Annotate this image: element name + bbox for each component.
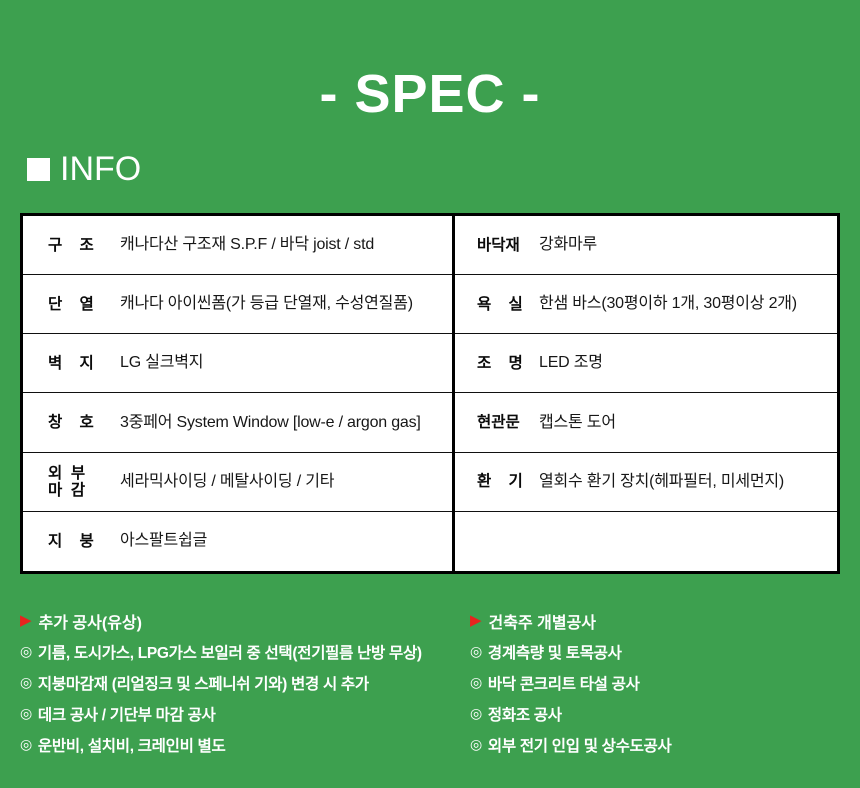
notes-heading-label: 건축주 개별공사	[489, 609, 597, 633]
list-item: ◎ 기름, 도시가스, LPG가스 보일러 중 선택(전기필름 난방 무상)	[20, 636, 470, 667]
spec-value: 3중페어 System Window [low-e / argon gas]	[101, 413, 421, 433]
circled-dot-icon: ◎	[470, 706, 482, 720]
filled-square-icon	[27, 158, 50, 181]
spec-label: 벽 지	[23, 355, 101, 372]
table-row: 지 붕 아스팔트쉽글	[23, 512, 452, 571]
list-item-label: 외부 전기 인입 및 상수도공사	[488, 734, 672, 756]
table-row: 욕 실 한샘 바스(30평이하 1개, 30평이상 2개)	[455, 275, 837, 334]
notes-section: ▶ 추가 공사(유상) ◎ 기름, 도시가스, LPG가스 보일러 중 선택(전…	[0, 606, 860, 782]
spec-table-left-column: 구 조 캐나다산 구조재 S.P.F / 바닥 joist / std 단 열 …	[23, 216, 455, 571]
circled-dot-icon: ◎	[470, 675, 482, 689]
list-item-label: 데크 공사 / 기단부 마감 공사	[38, 703, 216, 725]
table-row: 벽 지 LG 실크벽지	[23, 334, 452, 393]
list-item: ◎ 운반비, 설치비, 크레인비 별도	[20, 729, 470, 760]
circled-dot-icon: ◎	[20, 644, 32, 658]
spec-label: 지 붕	[23, 533, 101, 550]
spec-info-page: - SPEC - INFO 구 조 캐나다산 구조재 S.P.F / 바닥 jo…	[0, 0, 860, 788]
list-item: ◎ 지붕마감재 (리얼징크 및 스페니쉬 기와) 변경 시 추가	[20, 667, 470, 698]
list-item-label: 정화조 공사	[488, 703, 562, 725]
table-row: 조 명 LED 조명	[455, 334, 837, 393]
spec-value: 열회수 환기 장치(헤파필터, 미세먼지)	[539, 472, 784, 492]
info-section-heading: INFO	[27, 152, 141, 186]
list-item: ◎ 정화조 공사	[470, 698, 860, 729]
circled-dot-icon: ◎	[20, 675, 32, 689]
table-row: 외 부 마 감 세라믹사이딩 / 메탈사이딩 / 기타	[23, 453, 452, 512]
red-triangle-icon: ▶	[20, 613, 32, 628]
spec-label: 조 명	[455, 355, 539, 372]
circled-dot-icon: ◎	[20, 706, 32, 720]
circled-dot-icon: ◎	[20, 737, 32, 751]
red-triangle-icon: ▶	[470, 613, 482, 628]
spec-label: 구 조	[23, 237, 101, 254]
spec-value: LG 실크벽지	[101, 353, 203, 373]
spec-value: 강화마루	[539, 235, 597, 255]
list-item-label: 경계측량 및 토목공사	[488, 641, 622, 663]
spec-label: 현관문	[455, 414, 539, 431]
notes-heading: ▶ 추가 공사(유상)	[20, 606, 470, 636]
list-item-label: 기름, 도시가스, LPG가스 보일러 중 선택(전기필름 난방 무상)	[38, 641, 422, 663]
spec-value: 캐나다산 구조재 S.P.F / 바닥 joist / std	[101, 235, 374, 255]
spec-value: 아스팔트쉽글	[101, 531, 207, 551]
info-section-label: INFO	[60, 152, 141, 186]
spec-table: 구 조 캐나다산 구조재 S.P.F / 바닥 joist / std 단 열 …	[20, 213, 840, 574]
spec-value: 캐나다 아이씬폼(가 등급 단열재, 수성연질폼)	[101, 294, 413, 314]
list-item: ◎ 바닥 콘크리트 타설 공사	[470, 667, 860, 698]
spec-value: 세라믹사이딩 / 메탈사이딩 / 기타	[101, 472, 334, 492]
page-title: - SPEC -	[0, 62, 860, 126]
spec-label: 단 열	[23, 296, 101, 313]
table-row-empty	[455, 512, 837, 571]
list-item: ◎ 외부 전기 인입 및 상수도공사	[470, 729, 860, 760]
spec-label: 환 기	[455, 473, 539, 490]
table-row: 현관문 캡스톤 도어	[455, 393, 837, 452]
notes-heading-label: 추가 공사(유상)	[39, 609, 142, 633]
table-row: 환 기 열회수 환기 장치(헤파필터, 미세먼지)	[455, 453, 837, 512]
spec-label: 창 호	[23, 414, 101, 431]
table-row: 구 조 캐나다산 구조재 S.P.F / 바닥 joist / std	[23, 216, 452, 275]
list-item: ◎ 데크 공사 / 기단부 마감 공사	[20, 698, 470, 729]
notes-column-additional-work: ▶ 추가 공사(유상) ◎ 기름, 도시가스, LPG가스 보일러 중 선택(전…	[0, 606, 470, 782]
spec-value: 캡스톤 도어	[539, 413, 616, 433]
table-row: 바닥재 강화마루	[455, 216, 837, 275]
circled-dot-icon: ◎	[470, 644, 482, 658]
notes-column-owner-work: ▶ 건축주 개별공사 ◎ 경계측량 및 토목공사 ◎ 바닥 콘크리트 타설 공사…	[470, 606, 860, 782]
table-row: 단 열 캐나다 아이씬폼(가 등급 단열재, 수성연질폼)	[23, 275, 452, 334]
spec-value: 한샘 바스(30평이하 1개, 30평이상 2개)	[539, 294, 797, 314]
spec-label: 바닥재	[455, 237, 539, 254]
circled-dot-icon: ◎	[470, 737, 482, 751]
notes-heading: ▶ 건축주 개별공사	[470, 606, 860, 636]
spec-label: 외 부 마 감	[23, 465, 101, 499]
list-item-label: 지붕마감재 (리얼징크 및 스페니쉬 기와) 변경 시 추가	[38, 672, 369, 694]
list-item-label: 바닥 콘크리트 타설 공사	[488, 672, 640, 694]
spec-label: 욕 실	[455, 296, 539, 313]
spec-table-right-column: 바닥재 강화마루 욕 실 한샘 바스(30평이하 1개, 30평이상 2개) 조…	[455, 216, 837, 571]
list-item: ◎ 경계측량 및 토목공사	[470, 636, 860, 667]
spec-value: LED 조명	[539, 353, 603, 373]
list-item-label: 운반비, 설치비, 크레인비 별도	[38, 734, 226, 756]
table-row: 창 호 3중페어 System Window [low-e / argon ga…	[23, 393, 452, 452]
